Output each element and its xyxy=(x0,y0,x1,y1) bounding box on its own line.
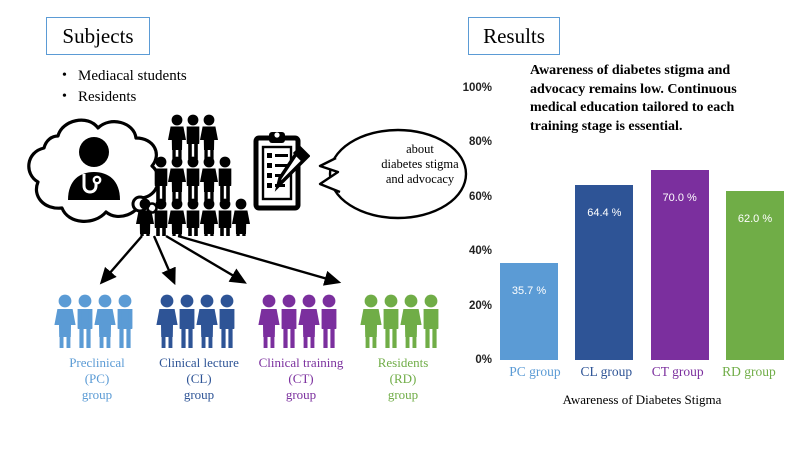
speech-bubble-line: about xyxy=(368,142,472,157)
bar-series: 35.7 %64.4 %70.0 %62.0 % xyxy=(500,88,784,360)
crowd-pyramid-icon xyxy=(132,112,254,236)
people-icon xyxy=(53,290,141,352)
subjects-section-title: Subjects xyxy=(46,17,150,55)
group-figures-ct xyxy=(257,290,345,352)
group-pc: Preclinical (PC) group xyxy=(46,290,148,403)
group-abbr: (RD) xyxy=(378,371,429,387)
results-section-title: Results xyxy=(468,17,560,55)
group-abbr: (CL) xyxy=(159,371,239,387)
group-figures-pc xyxy=(53,290,141,352)
subjects-bullet-list: Mediacal students Residents xyxy=(56,66,187,108)
x-axis-tick-label: CT group xyxy=(643,364,713,380)
y-axis-tick-label: 100% xyxy=(463,82,492,94)
group-suffix: group xyxy=(69,387,125,403)
y-axis-tick-label: 80% xyxy=(469,136,492,148)
group-rd: Residents (RD) group xyxy=(352,290,454,403)
y-axis-tick-label: 40% xyxy=(469,245,492,257)
x-axis-category-labels: PC groupCL groupCT groupRD group xyxy=(500,364,784,380)
clipboard-survey-icon xyxy=(252,128,310,214)
x-axis-title: Awareness of Diabetes Stigma xyxy=(500,392,784,408)
group-suffix: group xyxy=(259,387,344,403)
x-axis-tick-label: CL group xyxy=(571,364,641,380)
bar-value-label: 70.0 % xyxy=(663,192,697,204)
bar-slot: 70.0 % xyxy=(651,88,709,360)
speech-bubble-text: about diabetes stigma and advocacy xyxy=(368,142,472,187)
group-abbr: (PC) xyxy=(69,371,125,387)
group-cl: Clinical lecture (CL) group xyxy=(148,290,250,403)
group-suffix: group xyxy=(159,387,239,403)
group-ct: Clinical training (CT) group xyxy=(250,290,352,403)
bar-slot: 35.7 % xyxy=(500,88,558,360)
bar-slot: 64.4 % xyxy=(575,88,633,360)
group-figures-cl xyxy=(155,290,243,352)
bar[interactable]: 35.7 % xyxy=(500,263,558,360)
bar-slot: 62.0 % xyxy=(726,88,784,360)
slide-canvas: Subjects Mediacal students Residents xyxy=(0,0,800,461)
speech-bubble-line: and advocacy xyxy=(368,172,472,187)
x-axis-tick-label: RD group xyxy=(714,364,784,380)
group-figures-rd xyxy=(359,290,447,352)
bar[interactable]: 70.0 % xyxy=(651,170,709,360)
y-axis-tick-label: 20% xyxy=(469,300,492,312)
x-axis-tick-label: PC group xyxy=(500,364,570,380)
bar-value-label: 62.0 % xyxy=(738,213,772,225)
bar-chart-plot-area: 100%80%60%40%20%0% 35.7 %64.4 %70.0 %62.… xyxy=(500,88,784,360)
group-name: Preclinical xyxy=(69,355,125,371)
speech-bubble-line: diabetes stigma xyxy=(368,157,472,172)
people-icon xyxy=(359,290,447,352)
bar-value-label: 64.4 % xyxy=(587,207,621,219)
bar[interactable]: 64.4 % xyxy=(575,185,633,360)
people-icon xyxy=(257,290,345,352)
y-axis-tick-label: 60% xyxy=(469,191,492,203)
group-suffix: group xyxy=(378,387,429,403)
study-groups: Preclinical (PC) group Clinical lecture xyxy=(46,290,456,403)
group-name: Clinical training xyxy=(259,355,344,371)
y-axis-tick-label: 0% xyxy=(475,354,492,366)
group-name: Residents xyxy=(378,355,429,371)
group-abbr: (CT) xyxy=(259,371,344,387)
people-icon xyxy=(155,290,243,352)
bar[interactable]: 62.0 % xyxy=(726,191,784,360)
bar-value-label: 35.7 % xyxy=(512,285,546,297)
list-item: Residents xyxy=(78,87,187,108)
group-name: Clinical lecture xyxy=(159,355,239,371)
list-item: Mediacal students xyxy=(78,66,187,87)
